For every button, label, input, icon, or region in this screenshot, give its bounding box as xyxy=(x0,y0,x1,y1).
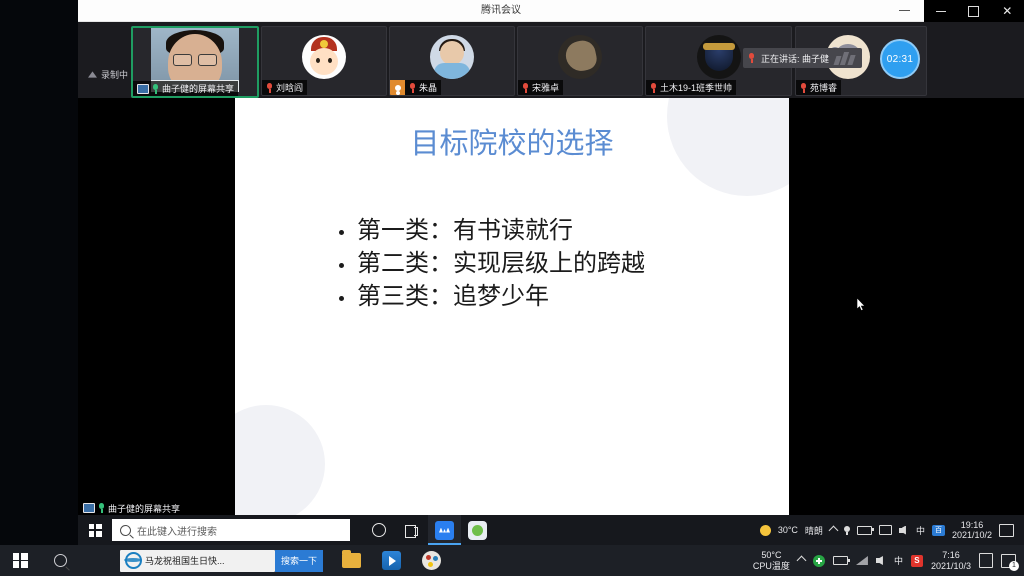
glasses-icon xyxy=(173,54,217,64)
ime-indicator[interactable]: 中 xyxy=(894,554,903,567)
clock-date: 2021/10/3 xyxy=(931,561,971,571)
participant-name: 土木19-1班季世帅 xyxy=(660,81,732,94)
microphone-muted-icon xyxy=(409,83,416,93)
tencent-meeting-window: 腾讯会议 ✕ 录制中 xyxy=(78,0,1024,545)
screen-share-icon xyxy=(83,503,95,513)
clock[interactable]: 7:16 2021/10/3 xyxy=(931,550,971,570)
participant-name: 朱晶 xyxy=(419,81,437,94)
participant-name: 刘晗阎 xyxy=(276,81,303,94)
close-button[interactable]: ✕ xyxy=(991,0,1024,22)
windows-logo-icon xyxy=(89,524,102,537)
avatar-face xyxy=(440,41,464,65)
action-center-icon[interactable] xyxy=(999,524,1014,537)
cortana-icon[interactable] xyxy=(362,515,395,545)
notification-count: 1 xyxy=(1009,561,1019,571)
participant-namebar: 朱晶 xyxy=(405,80,441,95)
inner-clock-date: 2021/10/2 xyxy=(952,530,992,540)
recording-label: 录制中 xyxy=(101,68,128,81)
action-center-icon[interactable]: 1 xyxy=(1001,554,1016,568)
screen-share-icon xyxy=(137,84,149,94)
paint-icon[interactable] xyxy=(411,545,451,576)
baidu-ime-icon[interactable]: 百 xyxy=(932,525,945,536)
notes-icon[interactable] xyxy=(979,553,993,568)
taskbar-search-button[interactable] xyxy=(40,545,80,576)
screen-share-banner: 曲子健的屏幕共享 xyxy=(78,501,185,515)
microphone-muted-icon xyxy=(800,83,807,93)
list-item: 第三类：追梦少年 xyxy=(333,280,773,313)
avatar xyxy=(302,35,346,79)
cpu-temperature-value: 50°C xyxy=(753,550,790,560)
shared-screen: 目标院校的选择 第一类：有书读就行 第二类：实现层级上的跨越 第三类：追梦少年 … xyxy=(78,98,1024,545)
avatar xyxy=(558,35,602,79)
participant-name: 苑博睿 xyxy=(810,81,837,94)
microphone-icon xyxy=(98,503,105,513)
volume-icon[interactable] xyxy=(899,526,909,535)
speaking-label: 正在讲话: 曲子健 xyxy=(761,52,829,65)
search-icon xyxy=(54,554,67,567)
microphone-muted-icon xyxy=(650,83,657,93)
microphone-tray-icon[interactable] xyxy=(844,526,850,535)
slide-decoration-circle xyxy=(235,405,325,515)
slide-bullet-list: 第一类：有书读就行 第二类：实现层级上的跨越 第三类：追梦少年 xyxy=(293,214,773,313)
avatar xyxy=(697,35,741,79)
clock-time: 7:16 xyxy=(931,550,971,560)
inner-system-tray: 30°C 晴朗 中 百 19:16 2021/10/2 xyxy=(760,520,1024,540)
recording-icon xyxy=(88,70,97,79)
taskbar: 马龙祝祖国生日快... 搜索一下 50°C CPU温度 中 S 7:16 202… xyxy=(0,545,1024,576)
inner-taskbar: 在此键入进行搜索 30°C 晴朗 中 xyxy=(78,515,1024,545)
windows-logo-icon xyxy=(13,553,28,568)
window-titlebar: 腾讯会议 xyxy=(78,0,924,22)
browser-search-button[interactable]: 搜索一下 xyxy=(275,550,323,572)
inner-clock[interactable]: 19:16 2021/10/2 xyxy=(952,520,992,540)
avatar-eye xyxy=(328,58,332,63)
participant-tile[interactable]: 曲子健的屏幕共享 xyxy=(131,26,259,98)
page-title: 腾讯会议 xyxy=(78,0,924,21)
participant-namebar: 土木19-1班季世帅 xyxy=(646,80,736,95)
avatar-face xyxy=(310,48,338,75)
recording-indicator: 录制中 xyxy=(88,68,128,81)
internet-explorer-icon xyxy=(125,552,142,569)
participant-namebar: 宋雅卓 xyxy=(518,80,563,95)
battery-icon[interactable] xyxy=(833,556,848,565)
weather-icon xyxy=(760,525,771,536)
speaking-timer-badge: 02:31 xyxy=(880,39,920,79)
mouse-cursor xyxy=(857,298,866,311)
paint-3d-icon[interactable] xyxy=(461,515,494,545)
task-view-button[interactable] xyxy=(80,545,120,576)
maximize-button[interactable] xyxy=(957,0,990,22)
security-icon[interactable] xyxy=(813,555,825,567)
list-item: 第二类：实现层级上的跨越 xyxy=(333,247,773,280)
avatar-image xyxy=(563,38,599,74)
weather-temperature: 30°C xyxy=(778,525,798,535)
participant-tile[interactable]: 刘晗阎 xyxy=(261,26,387,96)
cpu-temperature-widget[interactable]: 50°C CPU温度 xyxy=(753,550,790,570)
volume-icon[interactable] xyxy=(876,556,886,565)
presentation-slide: 目标院校的选择 第一类：有书读就行 第二类：实现层级上的跨越 第三类：追梦少年 xyxy=(235,98,789,515)
participant-tile[interactable]: 宋雅卓 xyxy=(517,26,643,96)
task-view-icon xyxy=(93,555,107,567)
screen-share-label: 曲子健的屏幕共享 xyxy=(108,502,180,515)
participant-name: 曲子健的屏幕共享 xyxy=(162,82,234,95)
slide-title: 目标院校的选择 xyxy=(235,120,789,162)
weather-condition: 晴朗 xyxy=(805,524,823,537)
inner-search-placeholder: 在此键入进行搜索 xyxy=(137,523,217,538)
ime-indicator[interactable]: 中 xyxy=(916,524,925,537)
microphone-muted-icon xyxy=(266,83,273,93)
cpu-temperature-label: CPU温度 xyxy=(753,561,790,571)
browser-search-box[interactable]: 马龙祝祖国生日快... xyxy=(120,550,275,572)
task-view-icon[interactable] xyxy=(395,515,428,545)
screen: 腾讯会议 ✕ 录制中 xyxy=(0,0,1024,576)
display-icon[interactable] xyxy=(879,525,892,535)
chevron-up-icon[interactable] xyxy=(828,525,838,535)
battery-icon[interactable] xyxy=(857,526,872,535)
avatar-image-accent xyxy=(703,43,735,50)
participant-namebar: 苑博睿 xyxy=(796,80,841,95)
search-icon xyxy=(120,525,131,536)
tencent-meeting-icon[interactable] xyxy=(428,515,461,545)
list-item: 第一类：有书读就行 xyxy=(333,214,773,247)
browser-search-query: 马龙祝祖国生日快... xyxy=(145,554,275,567)
participant-namebar: 刘晗阎 xyxy=(262,80,307,95)
microphone-icon xyxy=(748,53,755,63)
participant-filmstrip: 录制中 曲子健的屏幕共享 xyxy=(78,22,1024,98)
inner-start-button[interactable] xyxy=(78,515,112,545)
minimize-button[interactable] xyxy=(924,0,957,22)
microphone-icon xyxy=(152,84,159,94)
chevron-up-icon[interactable] xyxy=(796,556,806,566)
participant-tile[interactable]: 朱晶 xyxy=(389,26,515,96)
audio-wave-icon xyxy=(835,52,854,65)
window-controls: ✕ xyxy=(924,0,1024,22)
microphone-muted-icon xyxy=(522,83,529,93)
participant-namebar: 曲子健的屏幕共享 xyxy=(133,81,238,96)
file-explorer-icon[interactable] xyxy=(331,545,371,576)
inner-taskbar-icons xyxy=(362,515,494,545)
speaking-indicator: 正在讲话: 曲子健 xyxy=(743,48,862,68)
wifi-icon[interactable] xyxy=(856,556,868,565)
avatar-body xyxy=(434,63,470,79)
avatar xyxy=(430,35,474,79)
titlebar-minimize-button[interactable] xyxy=(884,0,924,21)
participant-badge-icon xyxy=(390,80,405,95)
avatar-eye xyxy=(316,58,320,63)
system-tray: 50°C CPU温度 中 S 7:16 2021/10/3 1 xyxy=(753,550,1024,570)
inner-clock-time: 19:16 xyxy=(952,520,992,530)
media-player-icon[interactable] xyxy=(371,545,411,576)
participant-name: 宋雅卓 xyxy=(532,81,559,94)
start-button[interactable] xyxy=(0,545,40,576)
sogou-ime-icon[interactable]: S xyxy=(911,555,923,567)
inner-search-input[interactable]: 在此键入进行搜索 xyxy=(112,519,350,541)
